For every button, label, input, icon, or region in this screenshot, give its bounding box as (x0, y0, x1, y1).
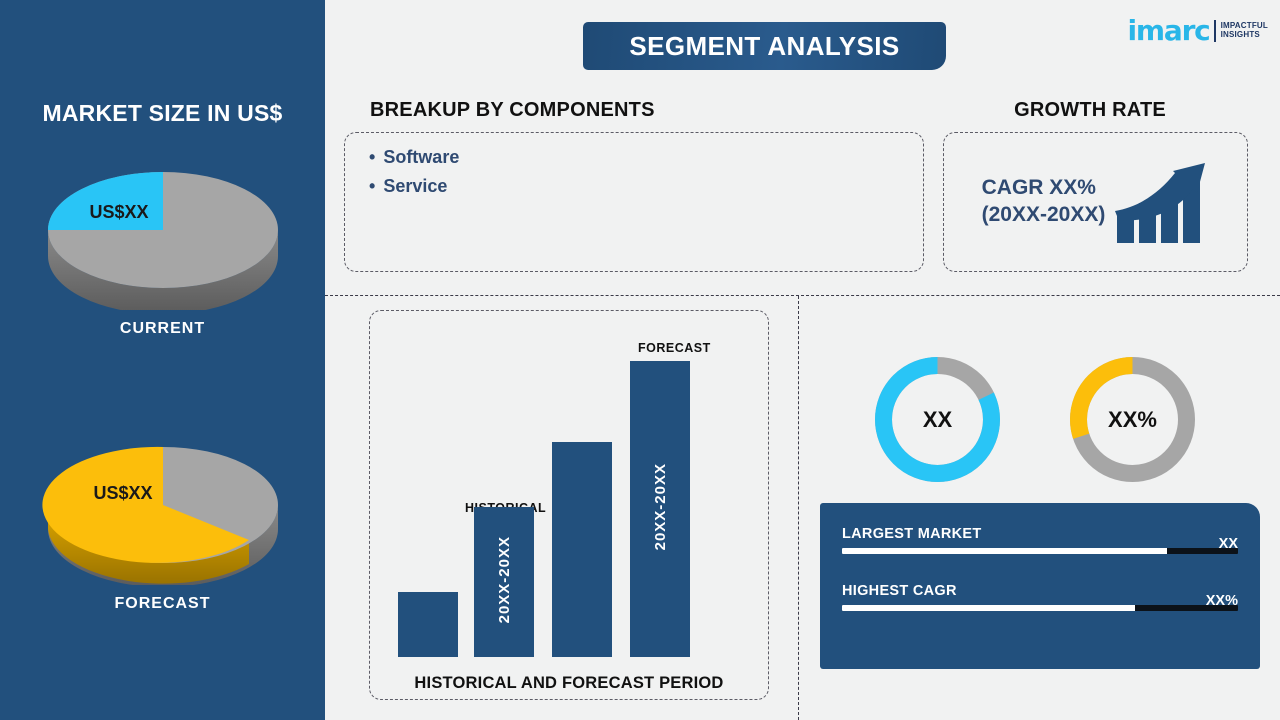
imarc-logo: imarc IMPACTFUL INSIGHTS (1128, 14, 1269, 48)
cagr-value: CAGR XX% (982, 175, 1106, 202)
horizontal-divider (325, 295, 1280, 296)
stat-row-highest-cagr: HIGHEST CAGR XX% (842, 582, 1238, 611)
forecast-pie-block: US$XX FORECAST (0, 425, 325, 613)
growth-box: CAGR XX% (20XX-20XX) (943, 132, 1248, 272)
bar-1 (398, 592, 458, 657)
list-item: Service (369, 176, 923, 197)
bar-4: 20XX-20XX (630, 361, 690, 657)
forecast-pie-chart: US$XX (28, 425, 298, 585)
market-share-donut: XX (870, 352, 1005, 487)
cagr-donut-label: XX% (1065, 352, 1200, 487)
current-pie-chart: US$XX (28, 150, 298, 310)
forecast-pie-caption: FORECAST (0, 595, 325, 613)
stat-progress-fill (842, 548, 1167, 554)
main-panel: SEGMENT ANALYSIS imarc IMPACTFUL INSIGHT… (325, 0, 1280, 720)
cagr-donut: XX% (1065, 352, 1200, 487)
bar-4-top-label: FORECAST (638, 341, 711, 355)
logo-divider (1214, 20, 1216, 42)
current-pie-block: US$XX CURRENT (0, 150, 325, 338)
key-stats-panel: LARGEST MARKET XX HIGHEST CAGR XX% (820, 503, 1260, 669)
current-pie-caption: CURRENT (0, 320, 325, 338)
market-size-sidebar: MARKET SIZE IN US$ US$XX CURRENT (0, 0, 325, 720)
current-pie-svg (28, 150, 298, 310)
historical-forecast-chart: HISTORICAL 20XX-20XX FORECAST 20XX-20XX … (369, 310, 769, 700)
stat-value: XX (1219, 536, 1238, 552)
page-title: SEGMENT ANALYSIS (629, 31, 899, 62)
current-pie-value: US$XX (90, 202, 149, 223)
forecast-pie-value: US$XX (94, 483, 153, 504)
bar-4-inner-label: 20XX-20XX (652, 463, 669, 550)
bar-2: 20XX-20XX (474, 507, 534, 657)
cagr-text: CAGR XX% (20XX-20XX) (982, 175, 1106, 229)
stat-progress-track (842, 548, 1238, 554)
page-title-banner: SEGMENT ANALYSIS (583, 22, 946, 70)
growth-heading: GROWTH RATE (940, 99, 1240, 122)
logo-tagline: IMPACTFUL INSIGHTS (1221, 22, 1268, 40)
stat-label: HIGHEST CAGR (842, 583, 957, 599)
stat-progress-track (842, 605, 1238, 611)
growth-arrow-bars-icon (1113, 159, 1209, 245)
components-box: Software Service (344, 132, 924, 272)
components-list: Software Service (345, 133, 923, 197)
stat-progress-fill (842, 605, 1135, 611)
forecast-pie-svg (28, 425, 298, 585)
stat-row-largest-market: LARGEST MARKET XX (842, 525, 1238, 554)
bars-caption: HISTORICAL AND FORECAST PERIOD (370, 674, 768, 693)
bar-3 (552, 442, 612, 657)
logo-tagline-line2: INSIGHTS (1221, 31, 1268, 40)
sidebar-title: MARKET SIZE IN US$ (0, 100, 325, 127)
list-item: Software (369, 147, 923, 168)
cagr-period: (20XX-20XX) (982, 202, 1106, 229)
bar-2-inner-label: 20XX-20XX (496, 536, 513, 623)
stat-label: LARGEST MARKET (842, 526, 982, 542)
vertical-divider (798, 296, 799, 720)
components-heading: BREAKUP BY COMPONENTS (370, 99, 655, 122)
logo-wordmark: imarc (1128, 17, 1210, 45)
stat-value: XX% (1206, 593, 1238, 609)
market-share-donut-label: XX (870, 352, 1005, 487)
